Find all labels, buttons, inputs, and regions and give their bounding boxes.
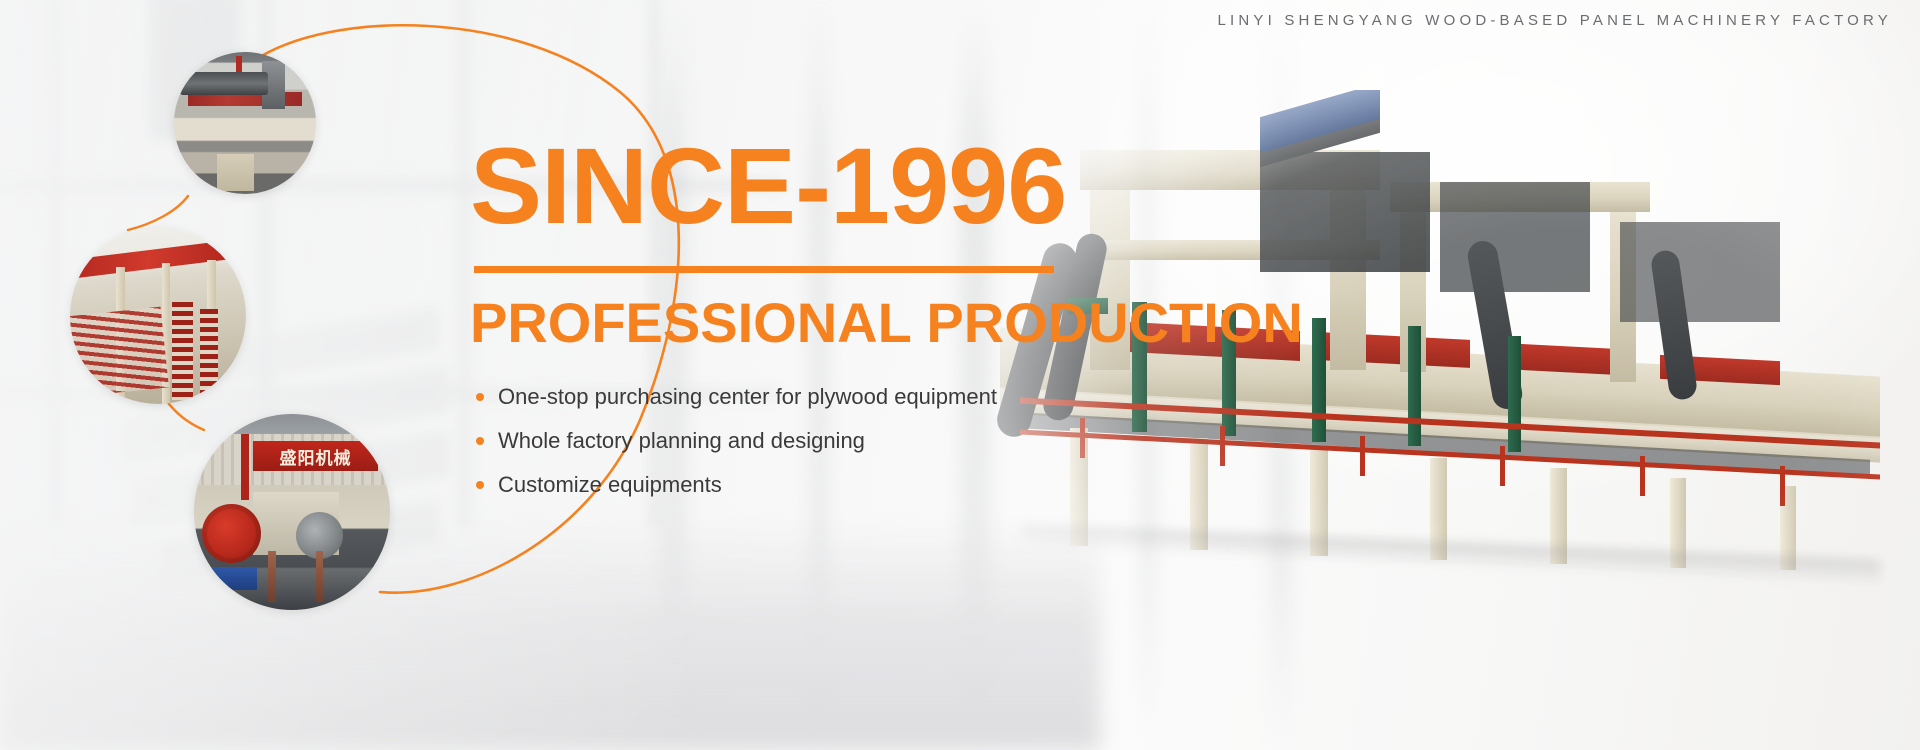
thumbnail-drying-kiln[interactable] xyxy=(70,228,246,404)
thumbnail-signboard-text: 盛阳机械 xyxy=(253,441,378,470)
thumbnail-image-2 xyxy=(70,228,246,404)
list-item: Whole factory planning and designing xyxy=(476,429,1130,453)
thumbnail-flywheel-saw[interactable]: 盛阳机械 xyxy=(194,414,390,610)
list-item: Customize equipments xyxy=(476,473,1130,497)
headline-since-1996: SINCE-1996 xyxy=(470,132,1130,240)
thumbnail-image-1 xyxy=(174,52,316,194)
list-item: One-stop purchasing center for plywood e… xyxy=(476,385,1130,409)
bullet-text: Whole factory planning and designing xyxy=(498,428,865,453)
headline-block: SINCE-1996 PROFESSIONAL PRODUCTION One-s… xyxy=(470,132,1130,518)
company-name-line: LINYI SHENGYANG WOOD-BASED PANEL MACHINE… xyxy=(1217,12,1892,29)
bullet-dot-icon xyxy=(476,393,484,401)
feature-bullet-list: One-stop purchasing center for plywood e… xyxy=(476,385,1130,498)
thumbnail-image-3: 盛阳机械 xyxy=(194,414,390,610)
bullet-text: One-stop purchasing center for plywood e… xyxy=(498,384,997,409)
bullet-text: Customize equipments xyxy=(498,472,722,497)
thumbnail-veneer-composer[interactable] xyxy=(174,52,316,194)
subheadline-professional-production: PROFESSIONAL PRODUCTION xyxy=(470,295,1130,351)
headline-divider-rule xyxy=(474,266,1054,273)
hero-banner: 盛阳机械 LINYI SHENGYANG WOOD-BASED PANEL MA… xyxy=(0,0,1920,750)
bullet-dot-icon xyxy=(476,481,484,489)
bullet-dot-icon xyxy=(476,437,484,445)
